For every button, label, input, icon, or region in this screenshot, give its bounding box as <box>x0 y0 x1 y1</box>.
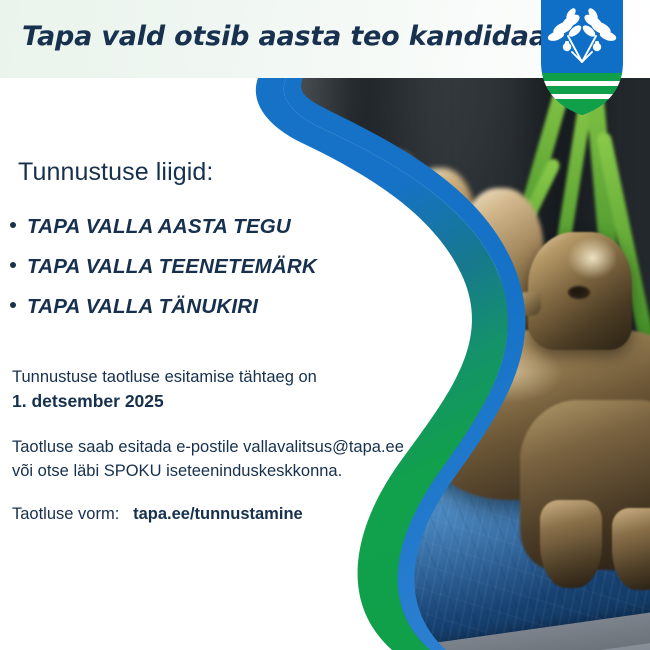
award-types-list: TAPA VALLA AASTA TEGU TAPA VALLA TEENETE… <box>10 215 317 335</box>
award-type-label: TAPA VALLA TÄNUKIRI <box>27 295 258 319</box>
bullet-dot-icon <box>10 262 16 268</box>
deadline-date: 1. detsember 2025 <box>12 389 404 414</box>
statuette-foreground-leg-left <box>540 500 602 588</box>
list-item: TAPA VALLA TEENETEMÄRK <box>10 255 317 279</box>
gold-plaque-engraving <box>404 324 496 354</box>
list-item: TAPA VALLA TÄNUKIRI <box>10 295 317 319</box>
award-type-label: TAPA VALLA TEENETEMÄRK <box>27 255 317 279</box>
statuette-background-2 <box>404 168 476 308</box>
submission-line-1: Taotluse saab esitada e-postile vallaval… <box>12 436 404 459</box>
submission-line-2: või otse läbi SPOKU iseteeninduskeskkonn… <box>12 460 404 483</box>
poster-canvas: Tapa vald otsib aasta teo kandidaate <box>0 0 650 650</box>
details-block: Tunnustuse taotluse esitamise tähtaeg on… <box>12 366 404 527</box>
award-type-label: TAPA VALLA AASTA TEGU <box>27 215 291 239</box>
bullet-dot-icon <box>10 222 16 228</box>
statuette-foreground-eye <box>568 286 590 299</box>
award-types-heading: Tunnustuse liigid: <box>18 158 213 187</box>
statuette-background-1 <box>362 152 426 284</box>
deadline-label: Tunnustuse taotluse esitamise tähtaeg on <box>12 366 404 389</box>
page-title: Tapa vald otsib aasta teo kandidaate <box>22 21 578 52</box>
tapa-vald-coat-of-arms-icon <box>541 0 623 115</box>
form-line: Taotluse vorm: tapa.ee/tunnustamine <box>12 503 404 526</box>
bullet-dot-icon <box>10 302 16 308</box>
gold-plaque-1 <box>367 274 446 315</box>
statuette-foreground-muzzle <box>513 292 541 316</box>
form-url-link[interactable]: tapa.ee/tunnustamine <box>133 505 303 523</box>
gold-plaque-2 <box>397 311 502 366</box>
form-label: Taotluse vorm: <box>12 505 119 523</box>
list-item: TAPA VALLA AASTA TEGU <box>10 215 317 239</box>
